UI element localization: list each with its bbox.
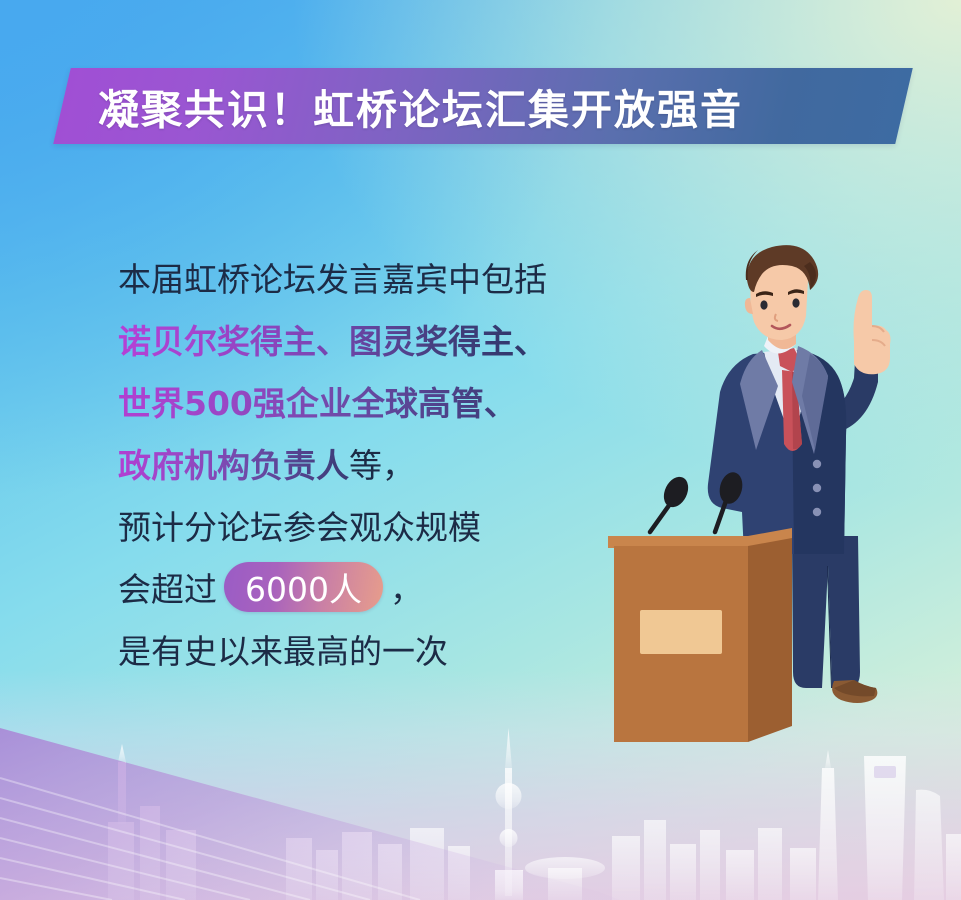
copy-line-1-text: 本届虹桥论坛发言嘉宾中包括 — [118, 253, 547, 301]
copy-line-4: 政府机构负责人 等， — [118, 432, 638, 494]
speaker-hand-index-up — [854, 290, 891, 374]
page-title: 凝聚共识！虹桥论坛汇集开放强音 — [98, 76, 743, 136]
copy-line-6-suffix: ， — [390, 563, 423, 611]
copy-line-4-text: 政府机构负责人 — [118, 439, 349, 487]
copy-line-7: 是有史以来最高的一次 — [118, 618, 638, 680]
jin-mao-tower — [818, 750, 838, 900]
copy-line-3-text: 世界500强企业全球高管、 — [118, 377, 517, 425]
poster: 凝聚共识！虹桥论坛汇集开放强音 本届虹桥论坛发言嘉宾中包括 诺贝尔奖得主、图灵奖… — [0, 0, 961, 900]
copy-line-3: 世界500强企业全球高管、 — [118, 370, 638, 432]
title-banner-text-wrap: 凝聚共识！虹桥论坛汇集开放强音 — [62, 68, 904, 144]
copy-line-5-text: 预计分论坛参会观众规模 — [118, 501, 481, 549]
attendance-badge: 6000人 — [224, 562, 383, 612]
speaker-at-podium-illustration — [596, 236, 936, 756]
podium — [608, 528, 792, 742]
diagonal-swoosh — [0, 720, 620, 900]
copy-line-1: 本届虹桥论坛发言嘉宾中包括 — [118, 246, 638, 308]
copy-line-6-prefix: 会超过 — [118, 563, 217, 611]
copy-line-2: 诺贝尔奖得主、图灵奖得主、 — [118, 308, 638, 370]
shanghai-tower — [914, 790, 944, 900]
copy-line-7-text: 是有史以来最高的一次 — [118, 625, 448, 673]
podium-plaque — [640, 610, 722, 654]
speaker-legs — [792, 536, 860, 688]
copy-line-4-tail: 等， — [349, 439, 415, 487]
body-copy: 本届虹桥论坛发言嘉宾中包括 诺贝尔奖得主、图灵奖得主、 世界500强企业全球高管… — [118, 246, 638, 680]
microphone-left — [650, 473, 693, 532]
copy-line-5: 预计分论坛参会观众规模 — [118, 494, 638, 556]
copy-line-2-text: 诺贝尔奖得主、图灵奖得主、 — [118, 315, 547, 363]
copy-line-6: 会超过 6000人 ， — [118, 556, 638, 618]
speaker-shoe — [832, 680, 877, 703]
